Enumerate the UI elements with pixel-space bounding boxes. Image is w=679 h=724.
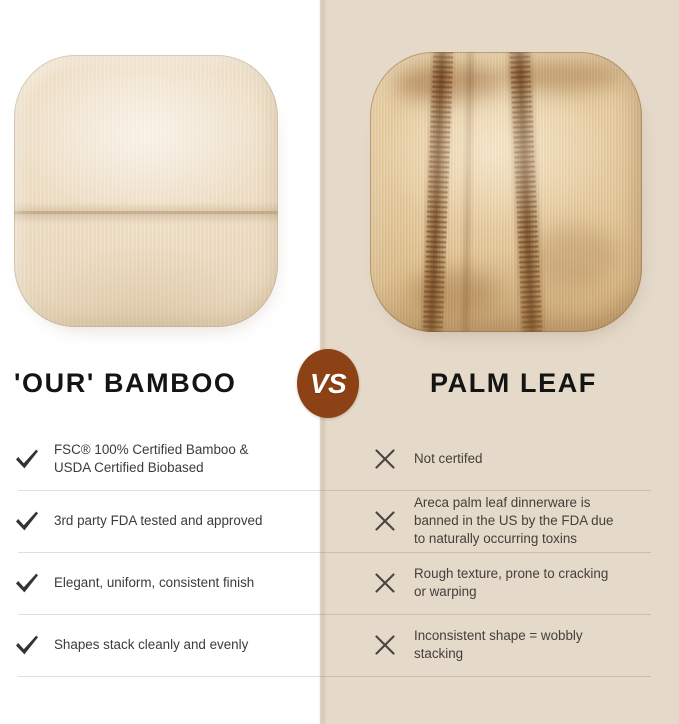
row-left-cell: Elegant, uniform, consistent finish: [0, 552, 320, 614]
row-right-text: Rough texture, prone to crackingor warpi…: [402, 565, 608, 601]
vs-badge-label: VS: [310, 368, 346, 400]
row-left-text: Shapes stack cleanly and evenly: [44, 636, 248, 654]
bamboo-plate-image: [14, 55, 278, 327]
x-icon: [368, 634, 402, 656]
row-right-text: Inconsistent shape = wobblystacking: [402, 627, 583, 663]
x-icon: [368, 572, 402, 594]
row-right-cell: Not certifed: [320, 428, 679, 490]
x-icon: [368, 448, 402, 470]
row-divider-beige: [320, 676, 651, 677]
bamboo-plate-rim: [14, 55, 278, 327]
row-right-text: Areca palm leaf dinnerware isbanned in t…: [402, 494, 614, 547]
table-bottom-divider-row: [0, 676, 679, 677]
row-left-text: 3rd party FDA tested and approved: [44, 512, 262, 530]
row-divider-beige: [320, 614, 651, 615]
row-right-text: Not certifed: [402, 450, 482, 468]
check-icon: [10, 447, 44, 471]
comparison-infographic: 'OUR' BAMBOO PALM LEAF VS FSC® 100% Cert…: [0, 0, 679, 724]
table-row: Elegant, uniform, consistent finish Roug…: [0, 552, 679, 614]
check-icon: [10, 633, 44, 657]
row-divider: [18, 676, 320, 677]
row-left-text: Elegant, uniform, consistent finish: [44, 574, 254, 592]
comparison-table: FSC® 100% Certified Bamboo &USDA Certifi…: [0, 428, 679, 677]
row-right-cell: Rough texture, prone to crackingor warpi…: [320, 552, 679, 614]
x-icon: [368, 510, 402, 532]
table-row: FSC® 100% Certified Bamboo &USDA Certifi…: [0, 428, 679, 490]
row-divider-beige: [320, 552, 651, 553]
palm-leaf-plate-image: [370, 52, 642, 332]
check-icon: [10, 571, 44, 595]
table-row: Shapes stack cleanly and evenly Inconsis…: [0, 614, 679, 676]
row-divider-beige: [320, 490, 651, 491]
vs-badge-icon: VS: [297, 349, 359, 418]
row-right-cell: Areca palm leaf dinnerware isbanned in t…: [320, 490, 679, 552]
table-row: 3rd party FDA tested and approved Areca …: [0, 490, 679, 552]
row-left-cell: Shapes stack cleanly and evenly: [0, 614, 320, 676]
row-left-cell: FSC® 100% Certified Bamboo &USDA Certifi…: [0, 428, 320, 490]
row-left-cell: 3rd party FDA tested and approved: [0, 490, 320, 552]
check-icon: [10, 509, 44, 533]
row-right-cell: Inconsistent shape = wobblystacking: [320, 614, 679, 676]
left-product-title: 'OUR' BAMBOO: [14, 352, 237, 414]
palm-plate-rim: [370, 52, 642, 332]
row-left-text: FSC® 100% Certified Bamboo &USDA Certifi…: [44, 441, 248, 477]
right-product-title: PALM LEAF: [430, 352, 597, 414]
